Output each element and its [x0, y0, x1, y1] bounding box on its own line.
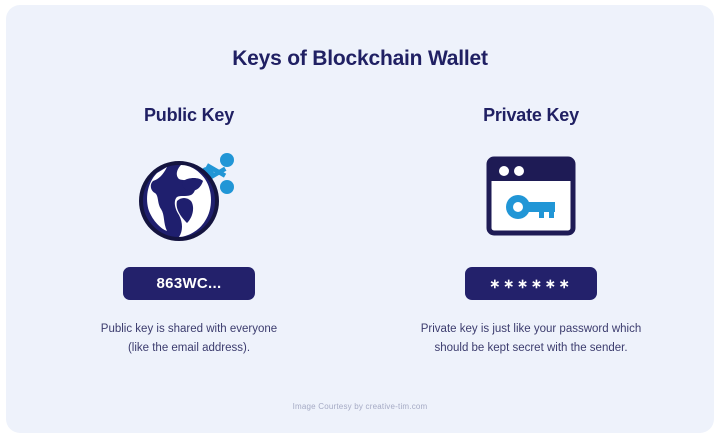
footer-credit: Image Courtesy by creative-tim.com [6, 402, 714, 411]
private-key-heading: Private Key [366, 105, 696, 131]
column-private-key: Private Key ∗∗ [366, 105, 696, 358]
public-key-heading: Public Key [24, 105, 354, 131]
infographic-card: Keys of Blockchain Wallet Public Key [6, 5, 714, 433]
public-key-caption-line-2: (like the email address). [24, 339, 354, 358]
private-key-badge-area: ∗∗∗∗∗∗ [366, 267, 696, 300]
private-key-caption-line-2: should be kept secret with the sender. [366, 339, 696, 358]
globe-share-icon [137, 147, 241, 250]
public-key-icon-area [24, 143, 354, 253]
public-key-badge[interactable]: 863WC... [123, 267, 255, 300]
browser-key-icon [485, 153, 577, 244]
column-public-key: Public Key [24, 105, 354, 358]
private-key-badge[interactable]: ∗∗∗∗∗∗ [465, 267, 597, 300]
private-key-caption: Private key is just like your password w… [366, 320, 696, 358]
private-key-caption-line-1: Private key is just like your password w… [366, 320, 696, 339]
public-key-caption: Public key is shared with everyone (like… [24, 320, 354, 358]
private-key-icon-area [366, 143, 696, 253]
public-key-badge-area: 863WC... [24, 267, 354, 300]
public-key-caption-line-1: Public key is shared with everyone [24, 320, 354, 339]
page-title: Keys of Blockchain Wallet [6, 47, 714, 71]
